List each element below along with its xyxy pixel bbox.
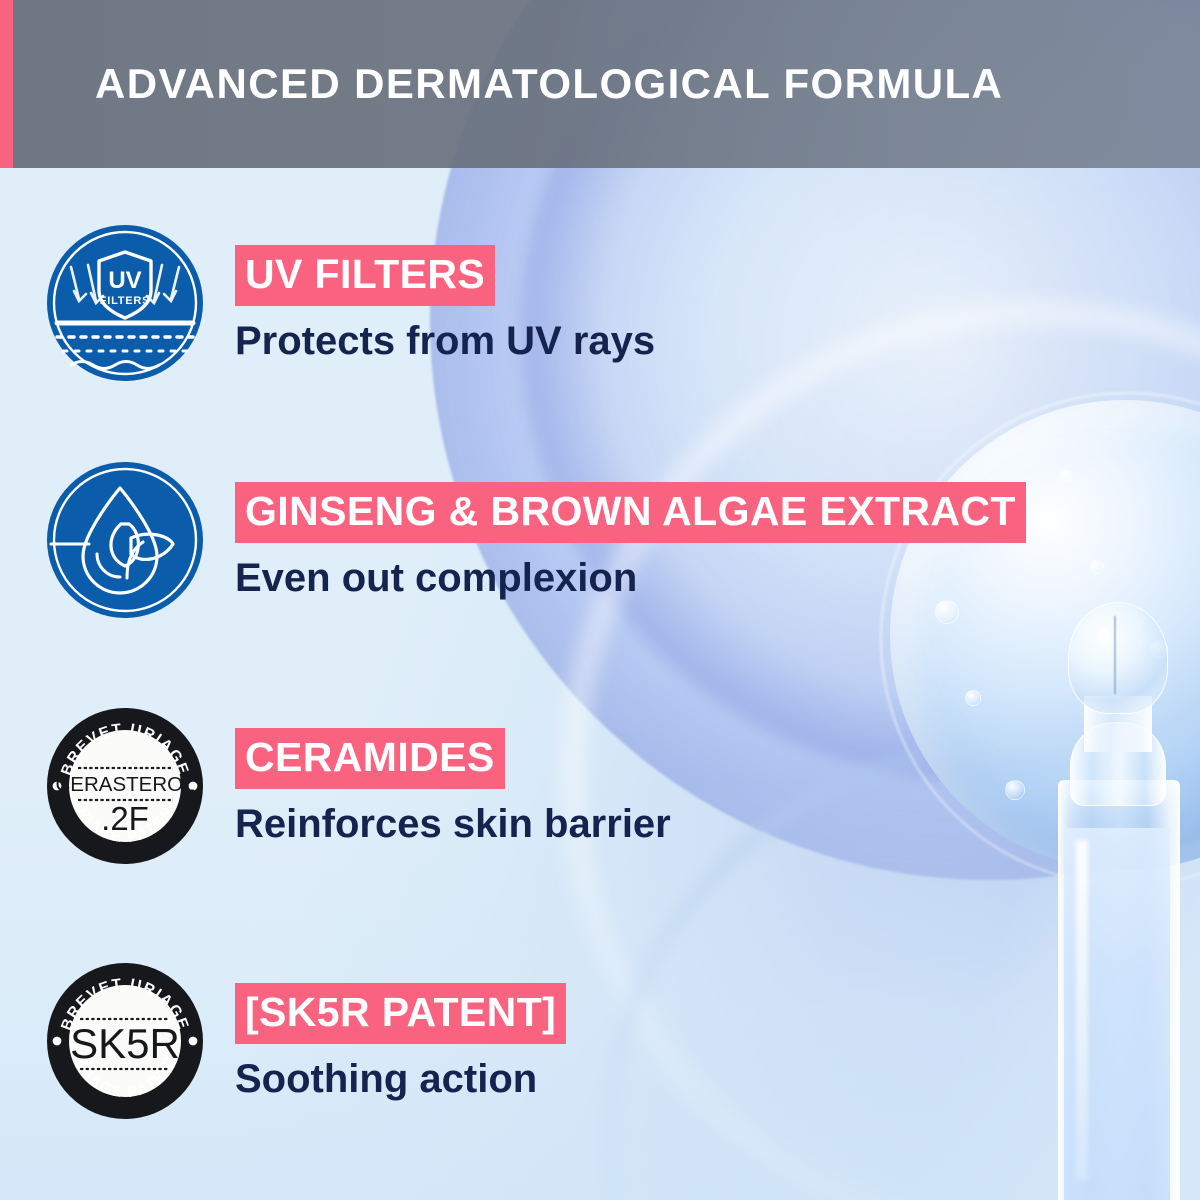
feature-text-sk5r: [SK5R PATENT] Soothing action (235, 961, 566, 1102)
uv-shield-icon: UV FILTERS (45, 223, 205, 383)
feature-tag: [SK5R PATENT] (235, 983, 566, 1044)
uv-shield-main-label: UV (108, 267, 141, 294)
bubble-icon (965, 690, 981, 706)
feature-description: Protects from UV rays (235, 318, 655, 364)
feature-tag: CERAMIDES (235, 728, 505, 789)
feature-row-ceramides: BREVET URIAGE URIAGE PATENT CERASTEROL .… (0, 706, 1200, 866)
badge-center-line2: .2F (101, 800, 149, 837)
feature-description: Reinforces skin barrier (235, 801, 671, 847)
feature-text-ginseng-algae: GINSENG & BROWN ALGAE EXTRACT Even out c… (235, 460, 1026, 601)
sk5r-patent-badge-icon: BREVET URIAGE URIAGE PATENT SK5R (45, 961, 205, 1121)
infographic-canvas: ADVANCED DERMATOLOGICAL FORMULA UV FILTE… (0, 0, 1200, 1200)
feature-row-sk5r: BREVET URIAGE URIAGE PATENT SK5R [SK5R P… (0, 961, 1200, 1121)
page-title: ADVANCED DERMATOLOGICAL FORMULA (95, 63, 1003, 105)
cerasterol-patent-badge-icon: BREVET URIAGE URIAGE PATENT CERASTEROL .… (45, 706, 205, 866)
feature-row-uv-filters: UV FILTERS (0, 223, 1200, 383)
badge-center-line1: CERASTEROL (56, 773, 195, 796)
header-accent-bar (0, 0, 13, 168)
header-band: ADVANCED DERMATOLOGICAL FORMULA (0, 0, 1200, 168)
feature-description: Even out complexion (235, 555, 1026, 601)
droplet-leaf-icon (45, 460, 205, 620)
feature-text-uv-filters: UV FILTERS Protects from UV rays (235, 223, 655, 364)
feature-tag: UV FILTERS (235, 245, 495, 306)
feature-row-ginseng-algae: GINSENG & BROWN ALGAE EXTRACT Even out c… (0, 460, 1200, 620)
badge-center-line1: SK5R (70, 1020, 180, 1067)
uv-shield-sub-label: FILTERS (100, 295, 151, 307)
feature-text-ceramides: CERAMIDES Reinforces skin barrier (235, 706, 671, 847)
feature-tag: GINSENG & BROWN ALGAE EXTRACT (235, 482, 1026, 543)
feature-description: Soothing action (235, 1056, 566, 1102)
